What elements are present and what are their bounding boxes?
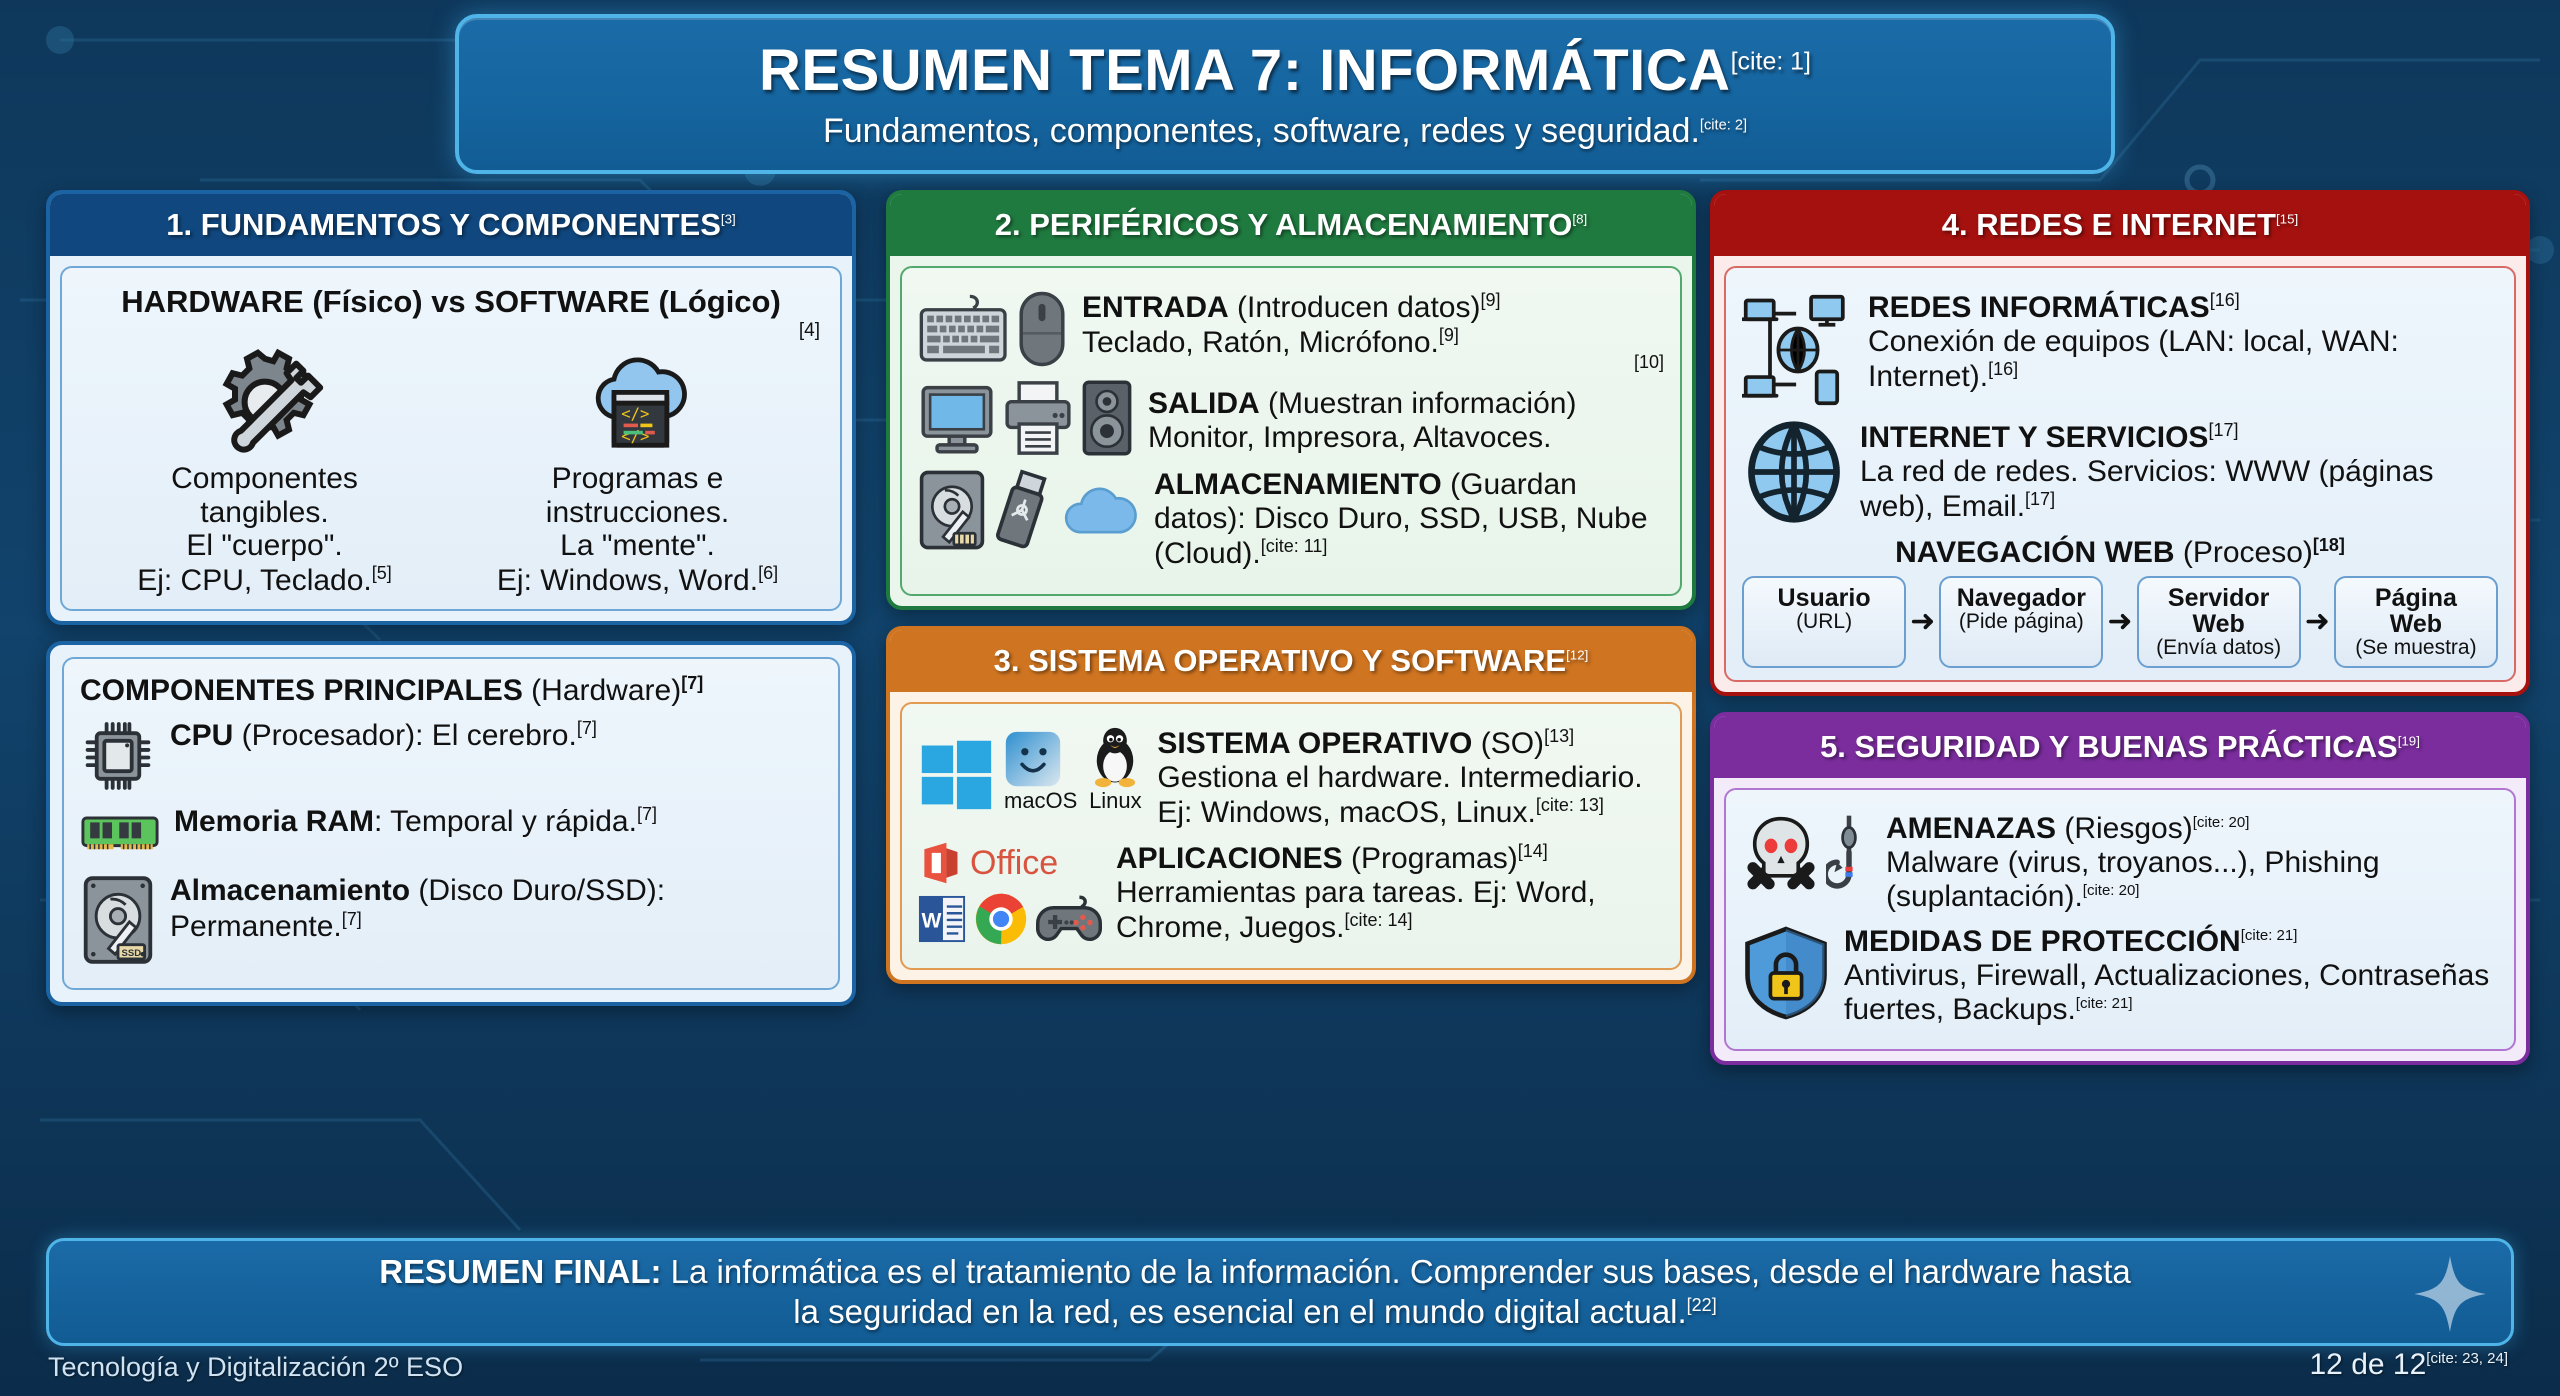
panel-perifericos-body: ENTRADA (Introducen datos)[9] Teclado, R… — [890, 256, 1692, 606]
list-item: Memoria RAM: Temporal y rápida.[7] — [80, 804, 822, 864]
resumen-final-bar: RESUMEN FINAL: La informática es el trat… — [46, 1238, 2514, 1346]
list-item: REDES INFORMÁTICAS[16] Conexión de equip… — [1742, 290, 2498, 410]
usb-stick-icon — [992, 468, 1052, 552]
list-item: macOS — [918, 726, 1664, 831]
footer-course-label: Tecnología y Digitalización 2º ESO — [48, 1352, 463, 1383]
svg-text:W: W — [921, 910, 941, 933]
office-label: Office — [970, 844, 1058, 883]
printer-icon — [1002, 379, 1074, 457]
navegacion-web-title: NAVEGACIÓN WEB (Proceso)[18] — [1742, 535, 2498, 570]
software-cell: </></> Programas einstrucciones.La "ment… — [451, 342, 824, 597]
seguridad-card: AMENAZAS (Riesgos)[cite: 20] Malware (vi… — [1724, 788, 2516, 1051]
list-item: INTERNET Y SERVICIOS[17] La red de redes… — [1742, 420, 2498, 525]
flow-step-navegador: Navegador (Pide página) — [1939, 576, 2103, 669]
entrada-text: ENTRADA (Introducen datos)[9] Teclado, R… — [1082, 290, 1664, 360]
hardware-software-citation: [4] — [78, 320, 820, 342]
ram-stick-icon — [80, 804, 160, 864]
list-item: MEDIDAS DE PROTECCIÓN[cite: 21] Antiviru… — [1742, 925, 2498, 1028]
perifericos-card: ENTRADA (Introducen datos)[9] Teclado, R… — [900, 266, 1682, 596]
cloud-icon — [1058, 479, 1140, 541]
panel-fundamentos: 1. FUNDAMENTOS Y COMPONENTES[3] HARDWARE… — [46, 190, 856, 625]
macos-logo-icon: macOS — [1004, 730, 1077, 812]
column-left: 1. FUNDAMENTOS Y COMPONENTES[3] HARDWARE… — [46, 190, 856, 1022]
flow-step-pagina-web: Página Web (Se muestra) — [2334, 576, 2498, 669]
list-item: CPU (Procesador): El cerebro.[7] — [80, 718, 822, 794]
panel-so-body: macOS — [890, 692, 1692, 981]
hardware-software-card: HARDWARE (Físico) vs SOFTWARE (Lógico) [… — [60, 266, 842, 611]
hardware-citation: [5] — [372, 563, 392, 583]
speaker-icon — [1080, 378, 1134, 458]
internet-servicios-text: INTERNET Y SERVICIOS[17] La red de redes… — [1860, 420, 2498, 525]
list-item: SSD Almacenamiento (Disco Duro/SSD): Per… — [80, 874, 822, 966]
salida-text: [10] SALIDA (Muestran información) Monit… — [1148, 378, 1664, 456]
skull-crossbones-icon — [1742, 813, 1820, 895]
panel-seguridad-body: AMENAZAS (Riesgos)[cite: 20] Malware (vi… — [1714, 778, 2526, 1061]
panel-redes-body: REDES INFORMÁTICAS[16] Conexión de equip… — [1714, 256, 2526, 692]
panel-redes-citation: [15] — [2276, 212, 2298, 227]
redes-informaticas-text: REDES INFORMÁTICAS[16] Conexión de equip… — [1868, 290, 2498, 395]
componentes-citation: [7] — [681, 673, 703, 693]
medidas-proteccion-text: MEDIDAS DE PROTECCIÓN[cite: 21] Antiviru… — [1844, 925, 2498, 1028]
panel-fundamentos-body: HARDWARE (Físico) vs SOFTWARE (Lógico) [… — [50, 256, 852, 621]
aplicaciones-text: APLICACIONES (Programas)[14] Herramienta… — [1116, 841, 1664, 946]
globe-icon — [1742, 420, 1846, 524]
almacenamiento-perifericos-text: ALMACENAMIENTO (Guardan datos): Disco Du… — [1154, 468, 1664, 572]
resumen-final-text: RESUMEN FINAL: La informática es el trat… — [339, 1252, 2221, 1333]
flow-step-servidor-web: Servidor Web (Envía datos) — [2137, 576, 2301, 669]
list-item: Office W — [918, 840, 1664, 946]
software-citation: [6] — [758, 563, 778, 583]
panel-redes-heading: 4. REDES E INTERNET[15] — [1714, 194, 2526, 256]
column-right: 4. REDES E INTERNET[15] — [1710, 190, 2530, 1081]
ms-office-logo-icon — [918, 840, 962, 886]
gamepad-icon — [1036, 893, 1102, 945]
panel-seguridad: 5. SEGURIDAD Y BUENAS PRÁCTICAS[19] — [1710, 712, 2530, 1065]
hardware-description: Componentestangibles.El "cuerpo".Ej: CPU… — [78, 462, 451, 597]
sparkle-decoration-icon — [2414, 1256, 2486, 1332]
keyboard-icon — [918, 290, 1010, 368]
software-description: Programas einstrucciones.La "mente".Ej: … — [451, 462, 824, 597]
ram-citation: [7] — [637, 804, 657, 824]
page-title: RESUMEN TEMA 7: INFORMÁTICA[cite: 1] — [759, 37, 1811, 104]
panel-componentes-body: COMPONENTES PRINCIPALES (Hardware)[7] — [50, 645, 852, 1002]
list-item: AMENAZAS (Riesgos)[cite: 20] Malware (vi… — [1742, 812, 2498, 915]
amenazas-text: AMENAZAS (Riesgos)[cite: 20] Malware (vi… — [1886, 812, 2498, 915]
almacenamiento-citation: [7] — [342, 909, 362, 929]
so-card: macOS — [900, 702, 1682, 971]
network-devices-icon — [1742, 290, 1854, 410]
svg-text:</>: </> — [621, 428, 649, 446]
hardware-cell: Componentestangibles.El "cuerpo".Ej: CPU… — [78, 342, 451, 597]
panel-perifericos: 2. PERIFÉRICOS Y ALMACENAMIENTO[8] — [886, 190, 1696, 610]
linux-label: Linux — [1087, 790, 1143, 812]
cpu-citation: [7] — [577, 718, 597, 738]
panel-so-citation: [12] — [1566, 647, 1588, 662]
gear-wrench-icon — [78, 342, 451, 462]
cloud-code-icon: </></> — [451, 342, 824, 462]
windows-logo-icon — [918, 736, 994, 812]
panel-fundamentos-heading: 1. FUNDAMENTOS Y COMPONENTES[3] — [50, 194, 852, 256]
redes-card: REDES INFORMÁTICAS[16] Conexión de equip… — [1724, 266, 2516, 682]
subtitle-citation: [cite: 2] — [1700, 118, 1747, 134]
ms-word-logo-icon: W — [918, 893, 966, 945]
shield-lock-icon — [1742, 925, 1830, 1021]
footer-page-number: 12 de 12[cite: 23, 24] — [2310, 1348, 2509, 1382]
hardware-software-title: HARDWARE (Físico) vs SOFTWARE (Lógico) — [78, 284, 824, 320]
flow-arrow-icon: ➜ — [2305, 576, 2330, 669]
panel-sistema-operativo-heading: 3. SISTEMA OPERATIVO Y SOFTWARE[12] — [890, 630, 1692, 692]
navegacion-web-flow: Usuario (URL) ➜ Navegador (Pide página) … — [1742, 576, 2498, 669]
panel-perifericos-heading: 2. PERIFÉRICOS Y ALMACENAMIENTO[8] — [890, 194, 1692, 256]
cpu-text: CPU (Procesador): El cerebro.[7] — [170, 718, 822, 753]
cpu-chip-icon — [80, 718, 156, 794]
panel-perifericos-citation: [8] — [1572, 212, 1587, 227]
hard-drive-icon — [918, 468, 986, 552]
linux-tux-icon: Linux — [1087, 726, 1143, 812]
sistema-operativo-text: SISTEMA OPERATIVO (SO)[13] Gestiona el h… — [1157, 726, 1664, 831]
slide-canvas: RESUMEN TEMA 7: INFORMÁTICA[cite: 1] Fun… — [0, 0, 2560, 1396]
chrome-logo-icon — [974, 892, 1028, 946]
list-item: [10] SALIDA (Muestran información) Monit… — [918, 378, 1664, 458]
ram-text: Memoria RAM: Temporal y rápida.[7] — [174, 804, 822, 839]
mouse-icon — [1016, 290, 1068, 368]
flow-step-usuario: Usuario (URL) — [1742, 576, 1906, 669]
flow-arrow-icon: ➜ — [2107, 576, 2132, 669]
panel-sistema-operativo: 3. SISTEMA OPERATIVO Y SOFTWARE[12] — [886, 626, 1696, 985]
list-item: ALMACENAMIENTO (Guardan datos): Disco Du… — [918, 468, 1664, 572]
componentes-card: COMPONENTES PRINCIPALES (Hardware)[7] — [62, 657, 840, 990]
monitor-icon — [918, 379, 996, 457]
panel-fundamentos-citation: [3] — [721, 212, 736, 227]
hard-drive-ssd-icon: SSD — [80, 874, 156, 966]
column-middle: 2. PERIFÉRICOS Y ALMACENAMIENTO[8] — [886, 190, 1696, 1000]
flow-arrow-icon: ➜ — [1910, 576, 1935, 669]
almacenamiento-text: Almacenamiento (Disco Duro/SSD): Permane… — [170, 874, 822, 943]
panel-seguridad-heading: 5. SEGURIDAD Y BUENAS PRÁCTICAS[19] — [1714, 716, 2526, 778]
page-subtitle: Fundamentos, componentes, software, rede… — [823, 112, 1747, 151]
svg-text:SSD: SSD — [122, 948, 142, 959]
macos-label: macOS — [1004, 790, 1077, 812]
panel-componentes: COMPONENTES PRINCIPALES (Hardware)[7] — [46, 641, 856, 1006]
slide-title-bar: RESUMEN TEMA 7: INFORMÁTICA[cite: 1] Fun… — [455, 14, 2115, 174]
panel-redes: 4. REDES E INTERNET[15] — [1710, 190, 2530, 696]
componentes-title: COMPONENTES PRINCIPALES (Hardware)[7] — [80, 673, 822, 708]
title-citation: [cite: 1] — [1731, 48, 1811, 76]
fishing-hook-icon — [1826, 812, 1872, 896]
panel-seguridad-citation: [19] — [2398, 734, 2420, 749]
svg-text:</>: </> — [621, 405, 649, 423]
